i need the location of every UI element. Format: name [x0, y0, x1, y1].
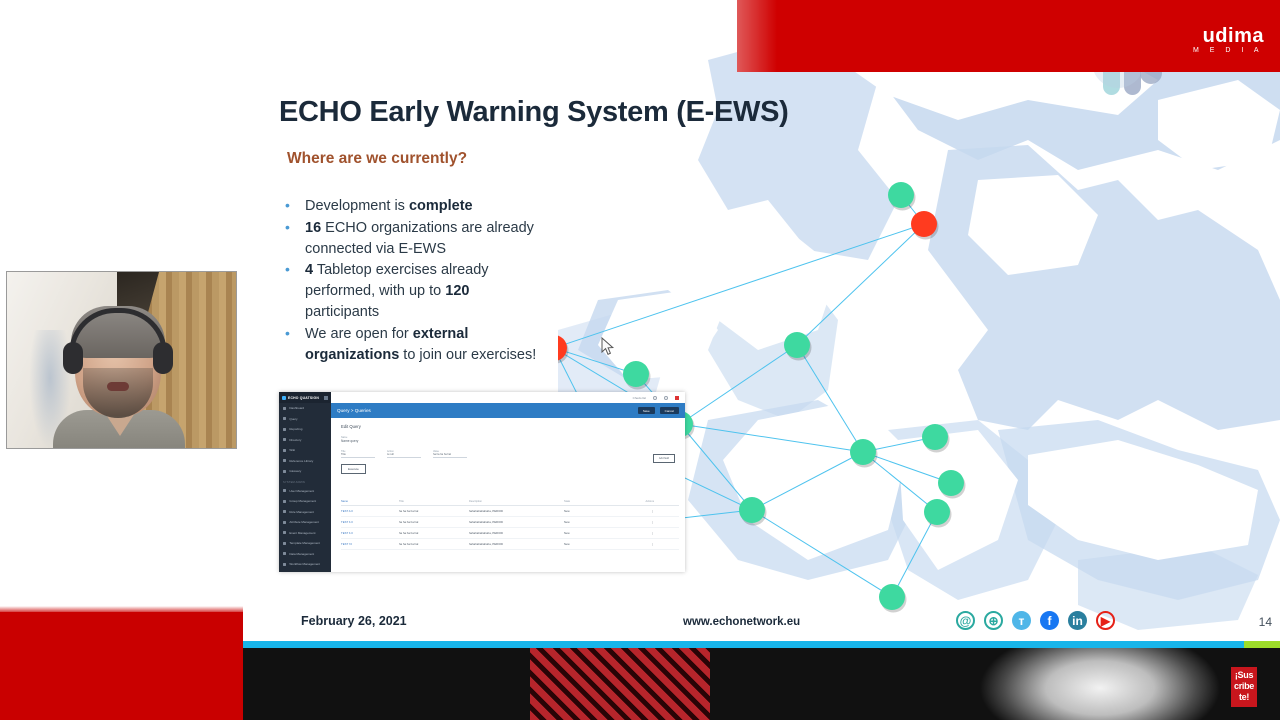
presenter-video-feed[interactable]	[6, 271, 237, 449]
table-cell: TEST f 0	[341, 542, 399, 546]
footer-accent-green	[1244, 641, 1280, 648]
table-cell: ha ha ha ha hal	[399, 520, 469, 524]
table-row[interactable]: TEST f 0ha ha ha ha halhahahahahahaha, P…	[341, 539, 679, 550]
nav-glyph-icon	[283, 470, 286, 473]
slide-subtitle: Where are we currently?	[287, 150, 467, 168]
bullet-item-1: Development is complete	[279, 196, 537, 217]
table-cell: hahahahahahaha, PERIOD	[469, 531, 564, 535]
app-execute-button[interactable]: Execute	[341, 464, 366, 474]
app-page-bar: Query > Queries Save Cancel	[331, 403, 685, 418]
table-cell: New	[564, 531, 624, 535]
app-sidebar: ECHO QUATSIGN DashboardQueryReportingDir…	[279, 392, 331, 572]
table-cell: hahahahahahaha, PERIOD	[469, 542, 564, 546]
nav-glyph-icon	[283, 407, 286, 410]
nav-glyph-icon	[283, 542, 286, 545]
mouse-cursor	[601, 337, 615, 356]
app-nav-list: DashboardQueryReportingDirectoryWikiRefe…	[279, 403, 331, 477]
app-query-field[interactable]: Actionis null	[387, 450, 421, 458]
table-cell: ⋮	[624, 509, 654, 513]
facebook-icon[interactable]: f	[1040, 611, 1059, 630]
table-cell: hahahahahahaha, PERIOD	[469, 509, 564, 513]
app-section-label: SYSTEM ADMIN	[279, 477, 331, 486]
website-globe-icon[interactable]: ⊕	[984, 611, 1003, 630]
app-menu-icon	[324, 396, 328, 400]
app-query-field[interactable]: TitleTitle	[341, 450, 375, 458]
email-at-icon[interactable]: @	[956, 611, 975, 630]
table-column-header: Description	[469, 500, 564, 503]
bullet-item-3: 4 Tabletop exercises already performed, …	[279, 260, 537, 322]
logo-tagline: M E D I A	[1193, 46, 1264, 56]
table-column-header: State	[564, 500, 624, 503]
search-icon[interactable]	[653, 396, 657, 400]
subscribe-badge[interactable]: ¡Suscribete!	[1231, 667, 1257, 707]
footer-date: February 26, 2021	[301, 614, 407, 628]
table-cell: ⋮	[624, 520, 654, 524]
page-number: 14	[1259, 615, 1272, 629]
app-nav-item[interactable]: Reporting	[279, 424, 331, 435]
app-admin-nav-item[interactable]: Group Management	[279, 496, 331, 507]
app-topbar: Chedo list	[331, 392, 685, 403]
nav-glyph-icon	[283, 563, 286, 566]
table-cell: TEST b 0	[341, 520, 399, 524]
nav-glyph-icon	[283, 459, 286, 462]
video-player-stage: ¡Suscribete!	[0, 0, 1280, 720]
table-column-header: Actions	[624, 500, 654, 503]
strip-red-lattice	[530, 648, 710, 720]
app-admin-nav-item[interactable]: Attribute Management	[279, 517, 331, 528]
app-admin-nav-item[interactable]: User Management	[279, 486, 331, 497]
table-cell: ha ha ha ha hal	[399, 542, 469, 546]
app-cancel-button[interactable]: Cancel	[660, 407, 679, 414]
nav-glyph-icon	[283, 500, 286, 503]
linkedin-icon[interactable]: in	[1068, 611, 1087, 630]
bullet-item-2: 16 ECHO organizations are already connec…	[279, 218, 537, 260]
app-logo-icon	[282, 396, 286, 400]
presenter-mouth	[107, 382, 129, 391]
table-cell: ha ha ha ha hal	[399, 531, 469, 535]
slide-footer: February 26, 2021 www.echonetwork.eu @⊕ᴛ…	[243, 606, 1280, 638]
embedded-app-screenshot[interactable]: ECHO QUATSIGN DashboardQueryReportingDir…	[279, 392, 685, 572]
nav-glyph-icon	[283, 521, 286, 524]
app-query-field[interactable]: Valueha ha ha ha hal	[433, 450, 467, 458]
udima-logo: udima M E D I A	[1193, 26, 1264, 56]
table-row[interactable]: TEST b 0ha ha ha ha halhahahahahahaha, P…	[341, 528, 679, 539]
app-filter-label[interactable]: Chedo list	[633, 396, 646, 400]
table-cell: TEST b 0	[341, 531, 399, 535]
nav-glyph-icon	[283, 489, 286, 492]
app-nav-item[interactable]: Reference Library	[279, 456, 331, 467]
notification-icon[interactable]	[675, 396, 679, 400]
nav-glyph-icon	[283, 417, 286, 420]
brand-banner: udima M E D I A	[737, 0, 1280, 72]
table-cell: ha ha ha ha hal	[399, 509, 469, 513]
app-admin-nav-item[interactable]: Role Management	[279, 507, 331, 518]
app-results-table: NameTitleDescriptionStateActions TEST A …	[341, 500, 679, 550]
app-add-field-button[interactable]: Add field	[653, 454, 675, 463]
nav-glyph-icon	[283, 449, 286, 452]
table-cell: ⋮	[624, 542, 654, 546]
table-row[interactable]: TEST b 0ha ha ha ha halhahahahahahaha, P…	[341, 517, 679, 528]
app-admin-nav-item[interactable]: Template Management	[279, 538, 331, 549]
app-admin-nav-item[interactable]: Workflow Management	[279, 559, 331, 570]
table-cell: New	[564, 509, 624, 513]
app-admin-nav-item[interactable]: Data Management	[279, 549, 331, 560]
nav-glyph-icon	[283, 510, 286, 513]
logo-wordmark: udima	[1193, 26, 1264, 46]
red-left-panel	[0, 612, 243, 720]
table-cell: ⋮	[624, 531, 654, 535]
bullet-item-4: We are open for external organizations t…	[279, 324, 537, 366]
headphones-right-cup-icon	[153, 342, 173, 374]
footer-accent-bar	[243, 641, 1280, 648]
app-admin-nav-item[interactable]: Event Management	[279, 528, 331, 539]
table-column-header: Name	[341, 500, 399, 503]
headphones-left-cup-icon	[63, 342, 83, 374]
twitter-icon[interactable]: ᴛ	[1012, 611, 1031, 630]
nav-glyph-icon	[283, 438, 286, 441]
bullet-list: Development is complete16 ECHO organizat…	[279, 196, 537, 366]
table-body: TEST A 0ha ha ha ha halhahahahahahaha, P…	[341, 506, 679, 550]
nav-glyph-icon	[283, 428, 286, 431]
social-icon-row: @⊕ᴛfin▶	[956, 611, 1115, 630]
table-cell: hahahahahahaha, PERIOD	[469, 520, 564, 524]
table-cell: New	[564, 542, 624, 546]
app-field-value[interactable]: Name query	[341, 439, 675, 443]
page-title: ECHO Early Warning System (E-EWS)	[279, 96, 789, 129]
app-brand-label: ECHO QUATSIGN	[288, 396, 319, 400]
grid-icon[interactable]	[664, 396, 668, 400]
app-nav-item[interactable]: Glossary	[279, 466, 331, 477]
table-row[interactable]: TEST A 0ha ha ha ha halhahahahahahaha, P…	[341, 506, 679, 517]
app-brand: ECHO QUATSIGN	[279, 392, 331, 403]
table-column-header: Title	[399, 500, 469, 503]
nav-glyph-icon	[283, 531, 286, 534]
app-breadcrumb: Query > Queries	[337, 408, 371, 413]
app-save-button[interactable]: Save	[638, 407, 655, 414]
app-admin-nav-list: User ManagementGroup ManagementRole Mana…	[279, 486, 331, 570]
app-nav-item[interactable]: Wiki	[279, 445, 331, 456]
nav-glyph-icon	[283, 552, 286, 555]
presentation-slide: udima M E D I A ECHO Early Warning Syste…	[243, 0, 1280, 648]
app-nav-item[interactable]: Dashboard	[279, 403, 331, 414]
table-cell: New	[564, 520, 624, 524]
app-query-row: TitleTitleActionis nullValueha ha ha ha …	[341, 450, 675, 458]
table-cell: TEST A 0	[341, 509, 399, 513]
app-heading: Edit Query	[341, 424, 675, 429]
app-nav-item[interactable]: Query	[279, 414, 331, 425]
app-nav-item[interactable]: Directory	[279, 435, 331, 446]
footer-url[interactable]: www.echonetwork.eu	[683, 616, 800, 628]
youtube-icon[interactable]: ▶	[1096, 611, 1115, 630]
